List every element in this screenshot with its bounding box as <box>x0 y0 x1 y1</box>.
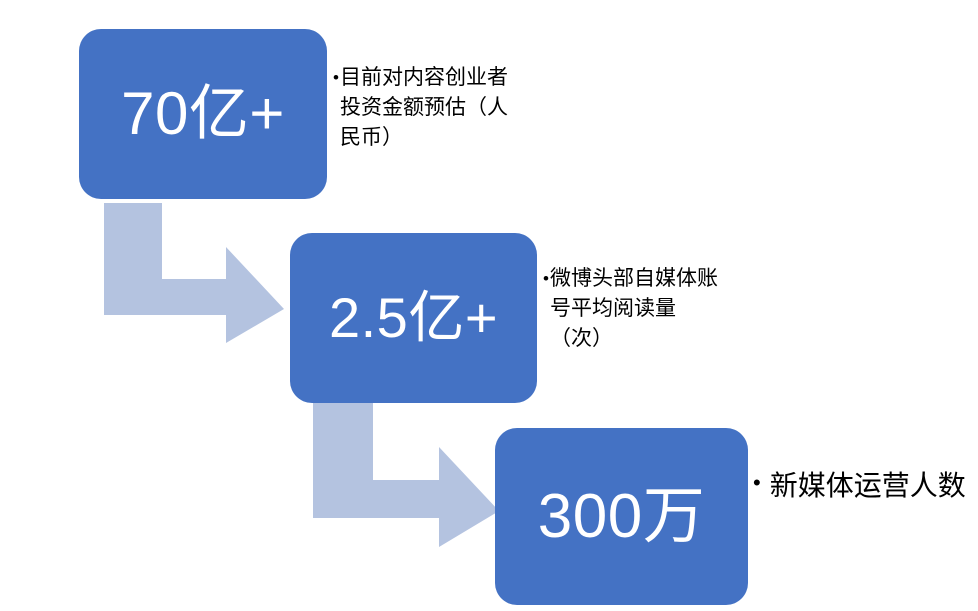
step-value-3: 300万 <box>538 486 705 548</box>
step-value-2: 2.5亿+ <box>329 290 498 346</box>
step-caption-text-2: 微博头部自媒体账号平均阅读量（次） <box>550 264 728 354</box>
bent-arrow-step2-to-step3 <box>313 400 499 547</box>
step-box-1[interactable]: 70亿+ <box>79 29 327 199</box>
bent-arrow-step1-to-step2 <box>104 203 284 343</box>
step-caption-text-1: 目前对内容创业者投资金额预估（人民币） <box>340 63 518 153</box>
step-box-2[interactable]: 2.5亿+ <box>290 233 537 403</box>
bullet-icon: • <box>333 63 339 86</box>
step-caption-text-3: 新媒体运营人数 <box>770 466 968 506</box>
step-value-1: 70亿+ <box>121 84 285 144</box>
step-caption-3: • 新媒体运营人数 <box>753 466 968 506</box>
step-caption-1: • 目前对内容创业者投资金额预估（人民币） <box>333 63 518 153</box>
bullet-icon: • <box>543 264 549 287</box>
step-down-process-diagram: 70亿+ • 目前对内容创业者投资金额预估（人民币） 2.5亿+ • 微博头部自… <box>0 0 978 611</box>
step-box-3[interactable]: 300万 <box>495 428 748 605</box>
bullet-icon: • <box>753 466 761 494</box>
step-caption-2: • 微博头部自媒体账号平均阅读量（次） <box>543 264 728 354</box>
